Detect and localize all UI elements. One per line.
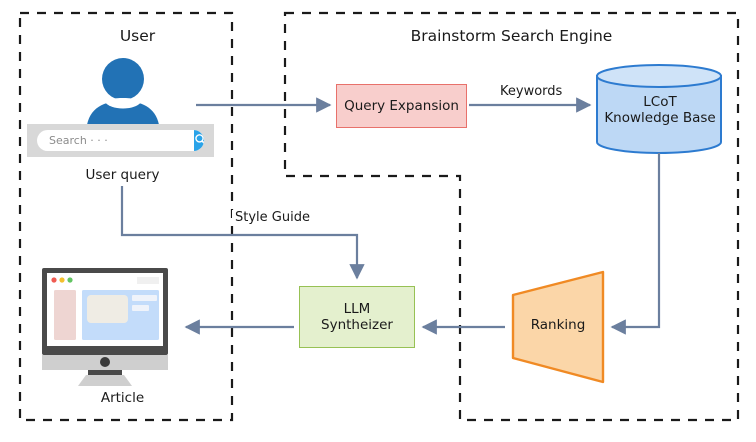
search-icon — [194, 133, 204, 149]
monitor-icon — [42, 268, 184, 386]
diagram-canvas: User Brainstorm Search Engine User query — [0, 0, 756, 442]
search-input-wrapper[interactable] — [37, 130, 204, 151]
search-input[interactable] — [37, 130, 194, 151]
group-title-engine: Brainstorm Search Engine — [285, 27, 738, 45]
edge-label-keywords: Keywords — [497, 84, 565, 99]
caption-user-query: User query — [40, 167, 205, 183]
group-title-user: User — [20, 27, 255, 45]
search-bar[interactable] — [27, 124, 214, 157]
edge-knowledge-base-to-ranking — [612, 153, 659, 327]
knowledge-base-shape — [597, 65, 721, 153]
ranking-shape — [513, 272, 603, 382]
edge-label-style-guide: Style Guide — [232, 210, 313, 225]
caption-article: Article — [40, 390, 205, 406]
edge-user-query-to-llm-synthesizer — [122, 186, 357, 278]
search-button[interactable] — [194, 130, 204, 151]
